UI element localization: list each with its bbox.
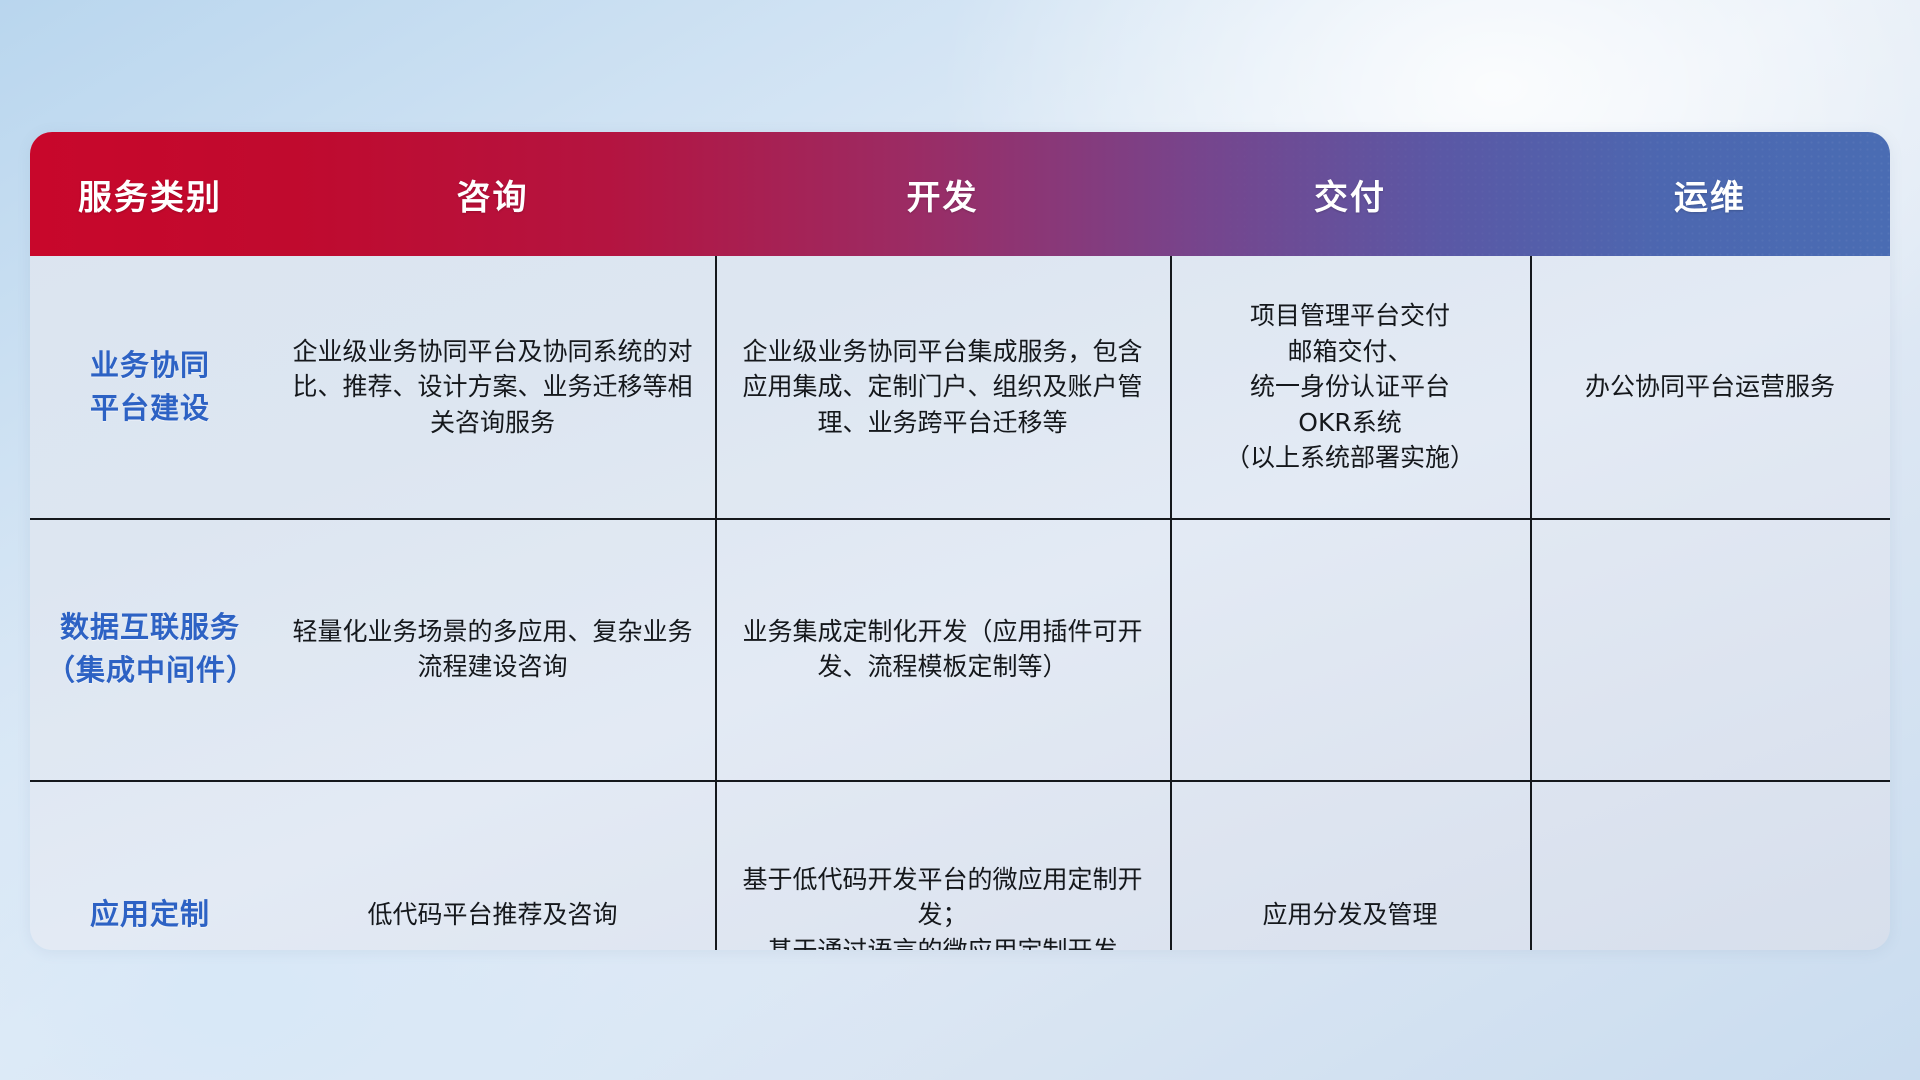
cell-development: 企业级业务协同平台集成服务，包含应用集成、定制门户、组织及账户管理、业务跨平台迁… <box>715 256 1170 518</box>
service-matrix-table: 服务类别 咨询 开发 交付 运维 业务协同 平台建设 企业级业务协同平台及协同系… <box>30 132 1890 950</box>
table-body: 业务协同 平台建设 企业级业务协同平台及协同系统的对比、推荐、设计方案、业务迁移… <box>30 256 1890 950</box>
column-header-delivery: 交付 <box>1170 132 1530 256</box>
row-label-data-interconnect: 数据互联服务 （集成中间件） <box>30 518 270 780</box>
column-header-development: 开发 <box>715 132 1170 256</box>
cell-delivery: 应用分发及管理 <box>1170 780 1530 950</box>
cell-operations: 办公协同平台运营服务 <box>1530 256 1890 518</box>
cell-consulting: 企业级业务协同平台及协同系统的对比、推荐、设计方案、业务迁移等相关咨询服务 <box>270 256 715 518</box>
column-header-category: 服务类别 <box>30 132 270 256</box>
cell-delivery: 项目管理平台交付 邮箱交付、 统一身份认证平台 OKR系统 （以上系统部署实施） <box>1170 256 1530 518</box>
cell-development: 业务集成定制化开发（应用插件可开发、流程模板定制等） <box>715 518 1170 780</box>
cell-delivery <box>1170 518 1530 780</box>
table-row: 应用定制 低代码平台推荐及咨询 基于低代码开发平台的微应用定制开发； 基于通过语… <box>30 780 1890 950</box>
cell-consulting: 轻量化业务场景的多应用、复杂业务流程建设咨询 <box>270 518 715 780</box>
table-row: 数据互联服务 （集成中间件） 轻量化业务场景的多应用、复杂业务流程建设咨询 业务… <box>30 518 1890 780</box>
cell-operations <box>1530 780 1890 950</box>
cell-operations <box>1530 518 1890 780</box>
table-header-row: 服务类别 咨询 开发 交付 运维 <box>30 132 1890 256</box>
column-header-consulting: 咨询 <box>270 132 715 256</box>
column-header-operations: 运维 <box>1530 132 1890 256</box>
row-label-business-collaboration: 业务协同 平台建设 <box>30 256 270 518</box>
page-root: 服务类别 咨询 开发 交付 运维 业务协同 平台建设 企业级业务协同平台及协同系… <box>0 0 1920 1080</box>
row-label-app-customization: 应用定制 <box>30 780 270 950</box>
cell-development: 基于低代码开发平台的微应用定制开发； 基于通过语言的微应用定制开发 <box>715 780 1170 950</box>
cell-consulting: 低代码平台推荐及咨询 <box>270 780 715 950</box>
table-row: 业务协同 平台建设 企业级业务协同平台及协同系统的对比、推荐、设计方案、业务迁移… <box>30 256 1890 518</box>
